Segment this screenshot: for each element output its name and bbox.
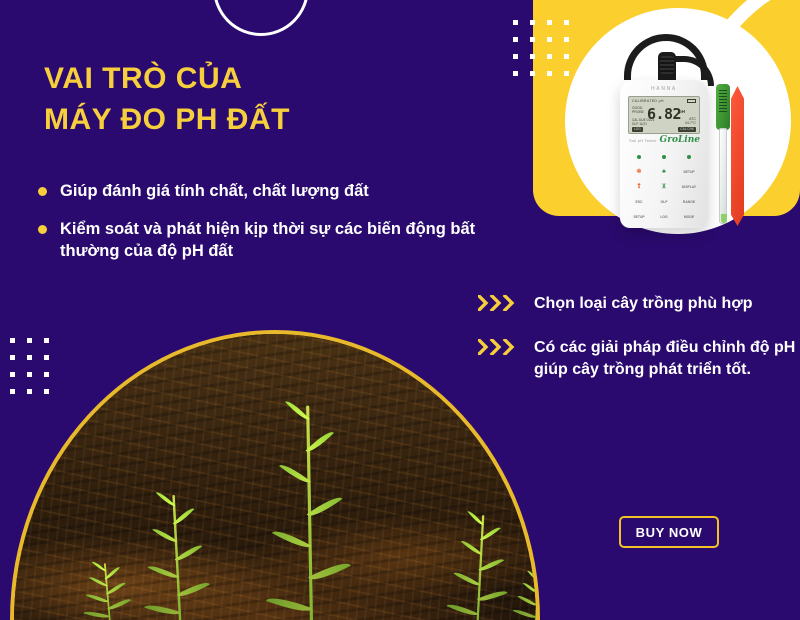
corn-leaf bbox=[536, 589, 540, 603]
groline-logo: GroLine bbox=[660, 135, 700, 145]
circle-outline-decor bbox=[213, 0, 309, 36]
bullet-dot-icon bbox=[38, 187, 47, 196]
keypad-key[interactable]: ⊻ bbox=[653, 182, 675, 193]
dot-grid-top-icon bbox=[513, 20, 569, 76]
keypad-key[interactable]: DISPLAY bbox=[678, 182, 700, 193]
decor-dot bbox=[530, 37, 535, 42]
list-item: Chọn loại cây trồng phù hợp bbox=[478, 293, 798, 315]
list-item-label: Chọn loại cây trồng phù hợp bbox=[534, 293, 752, 315]
lcd-unit: pH bbox=[679, 109, 685, 114]
probe-glass-shaft bbox=[719, 128, 727, 224]
lcd-bottom-info: CAL DUE 01/21 GLP 11/21 bbox=[632, 118, 655, 126]
list-item-label: Kiểm soát và phát hiện kịp thời sự các b… bbox=[60, 218, 508, 262]
decor-dot bbox=[513, 54, 518, 59]
keypad-key[interactable]: LOG bbox=[653, 211, 675, 222]
device-keypad[interactable]: ✻♣SETUP❢⊻DISPLAYESCGLPRANGESETUPLOGMODE bbox=[628, 152, 700, 222]
keypad-key[interactable] bbox=[678, 152, 700, 163]
key-glyph-icon: ⊻ bbox=[662, 184, 666, 190]
lcd-softkey-right: CAL CHK bbox=[678, 127, 696, 132]
decor-dot bbox=[513, 37, 518, 42]
keypad-key[interactable]: SETUP bbox=[628, 211, 650, 222]
keypad-key[interactable]: ESC bbox=[628, 196, 650, 207]
decor-dot bbox=[564, 54, 569, 59]
led-indicator-icon bbox=[637, 155, 641, 159]
decor-dot bbox=[547, 37, 552, 42]
probe-red-cap bbox=[731, 86, 744, 226]
key-glyph-icon: ❢ bbox=[636, 184, 641, 190]
lcd-status-line: CALIBRATED pH bbox=[632, 99, 664, 103]
list-item-label: Giúp đánh giá tính chất, chất lượng đất bbox=[60, 180, 369, 202]
key-glyph-icon: ♣ bbox=[662, 169, 666, 175]
lcd-screen: CALIBRATED pH GOOD PROBE 6.82 pH ATC 24.… bbox=[628, 96, 700, 134]
decor-dot bbox=[564, 71, 569, 76]
meter-body: HANNA CALIBRATED pH GOOD PROBE 6.82 pH A… bbox=[620, 80, 708, 228]
decor-dot bbox=[564, 20, 569, 25]
keypad-key[interactable]: ♣ bbox=[653, 167, 675, 178]
keypad-key[interactable] bbox=[628, 152, 650, 163]
decor-dot bbox=[547, 71, 552, 76]
benefit-list: Giúp đánh giá tính chất, chất lượng đất … bbox=[38, 180, 508, 278]
decor-dot bbox=[530, 71, 535, 76]
decor-dot bbox=[530, 54, 535, 59]
lcd-temp-value: 24.7°C bbox=[685, 121, 696, 125]
list-item-label: Có các giải pháp điều chỉnh độ pH giúp c… bbox=[534, 337, 798, 381]
lcd-softkey-left: LOG bbox=[632, 127, 643, 132]
decor-dot bbox=[564, 37, 569, 42]
keypad-key[interactable]: SETUP bbox=[678, 167, 700, 178]
keypad-key[interactable]: MODE bbox=[678, 211, 700, 222]
cornfield-photo bbox=[10, 330, 540, 620]
led-indicator-icon bbox=[662, 155, 666, 159]
triple-chevron-right-icon bbox=[478, 295, 520, 311]
key-glyph-icon: ✻ bbox=[636, 169, 641, 175]
ph-meter-device: HANNA CALIBRATED pH GOOD PROBE 6.82 pH A… bbox=[600, 28, 750, 228]
probe-green-head bbox=[716, 84, 730, 130]
poster-canvas: VAI TRÒ CỦA MÁY ĐO PH ĐẤT Giúp đánh giá … bbox=[0, 0, 800, 600]
keypad-key[interactable]: ✻ bbox=[628, 167, 650, 178]
title-line-2: MÁY ĐO PH ĐẤT bbox=[44, 99, 290, 140]
list-item: Kiểm soát và phát hiện kịp thời sự các b… bbox=[38, 218, 508, 262]
title-line-1: VAI TRÒ CỦA bbox=[44, 58, 290, 99]
keypad-key[interactable]: GLP bbox=[653, 196, 675, 207]
battery-icon bbox=[687, 99, 696, 103]
buy-now-button[interactable]: BUY NOW bbox=[619, 516, 719, 548]
lcd-temperature: ATC 24.7°C bbox=[685, 117, 696, 126]
decor-dot bbox=[547, 20, 552, 25]
keypad-key[interactable] bbox=[653, 152, 675, 163]
page-title: VAI TRÒ CỦA MÁY ĐO PH ĐẤT bbox=[44, 58, 290, 141]
decor-dot bbox=[530, 20, 535, 25]
device-brand-top: HANNA bbox=[620, 86, 708, 92]
device-sub-label: Soil pH Tester bbox=[629, 138, 657, 143]
decor-dot bbox=[513, 20, 518, 25]
list-item: Giúp đánh giá tính chất, chất lượng đất bbox=[38, 180, 508, 202]
keypad-key[interactable]: ❢ bbox=[628, 182, 650, 193]
bullet-dot-icon bbox=[38, 225, 47, 234]
lcd-glp: GLP 11/21 bbox=[632, 122, 655, 126]
lcd-softkeys: LOG CAL CHK bbox=[632, 127, 696, 132]
corn-leaf bbox=[536, 576, 540, 590]
led-indicator-icon bbox=[687, 155, 691, 159]
decor-dot bbox=[513, 71, 518, 76]
decor-dot bbox=[547, 54, 552, 59]
keypad-key[interactable]: RANGE bbox=[678, 196, 700, 207]
